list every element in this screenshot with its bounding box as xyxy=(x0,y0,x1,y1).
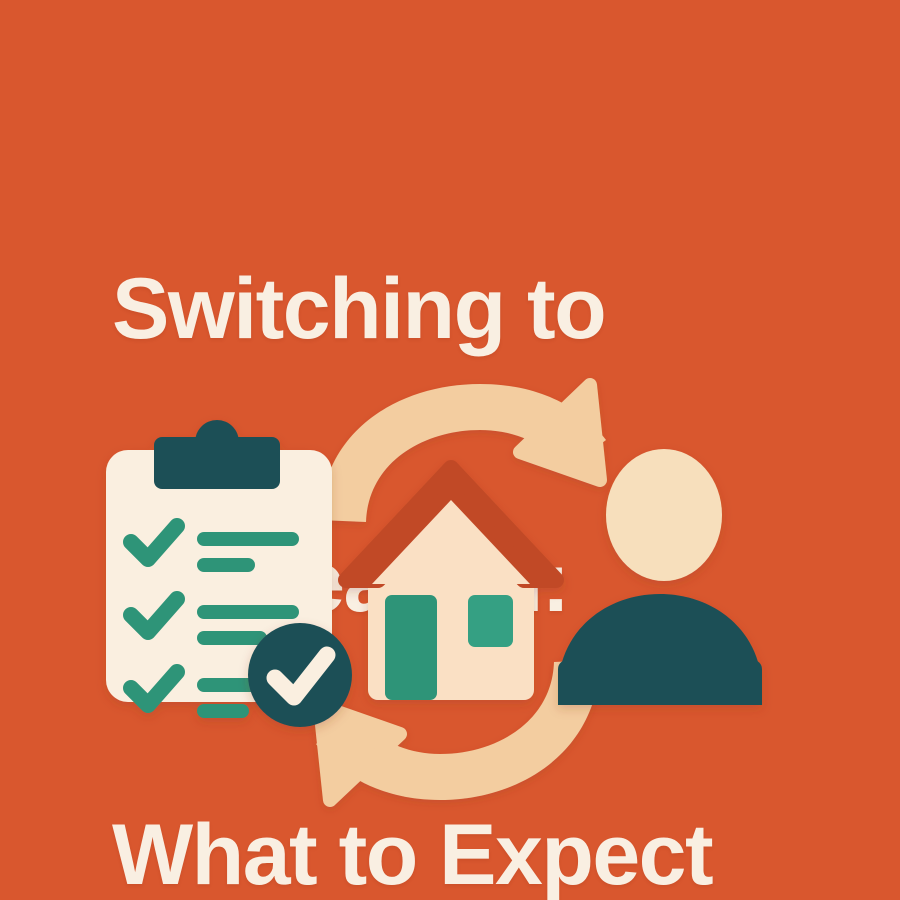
person-icon xyxy=(558,449,762,705)
person-head xyxy=(606,449,722,581)
badge-circle xyxy=(248,623,352,727)
house-window xyxy=(468,595,513,647)
clipboard-line-long xyxy=(197,532,299,546)
clipboard-line-short xyxy=(197,704,249,718)
clipboard-line-short xyxy=(197,631,267,645)
clipboard-clip xyxy=(154,420,280,489)
house-door xyxy=(385,595,437,700)
house-icon xyxy=(346,468,556,700)
illustration-graphic xyxy=(0,0,900,900)
verified-badge-icon xyxy=(248,623,352,727)
person-body-base xyxy=(558,660,762,705)
poster-canvas: Switching to Recreation: What to Expect xyxy=(0,0,900,900)
clipboard-line-long xyxy=(197,605,299,619)
clipboard-line-short xyxy=(197,558,255,572)
